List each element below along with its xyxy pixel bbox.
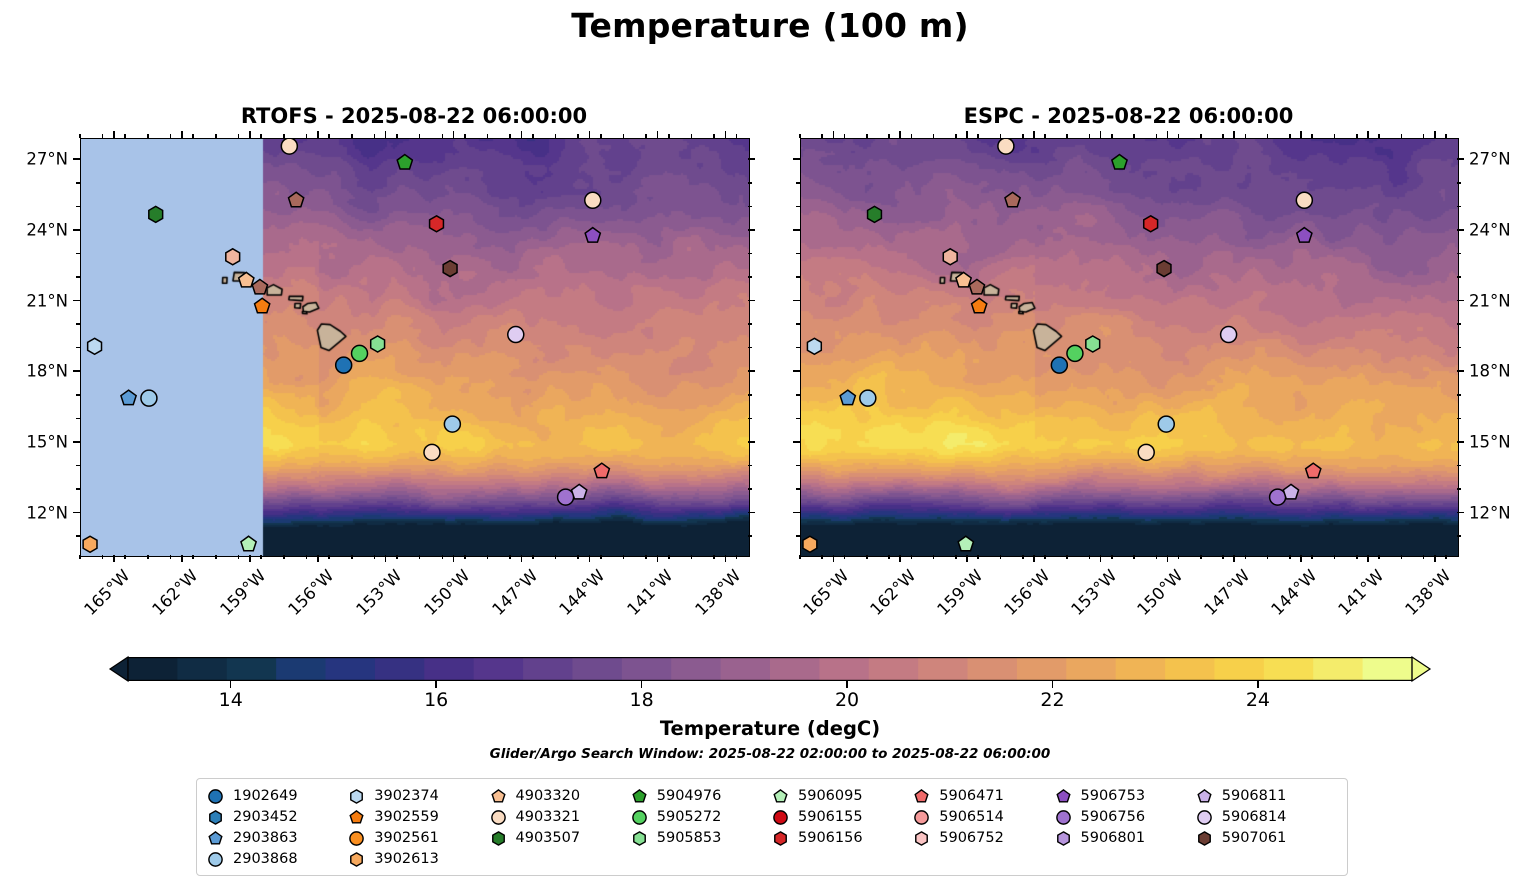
xtick-major-top: [899, 131, 901, 138]
xtick-minor-top: [1356, 134, 1358, 138]
xtick-major: [833, 555, 835, 562]
argo-marker[interactable]: [958, 536, 973, 550]
xtick-minor: [102, 555, 104, 559]
xtick-major: [1233, 555, 1235, 562]
ytick-minor-right: [748, 535, 752, 537]
xtick-major: [725, 555, 727, 562]
legend-item[interactable]: 4903321: [490, 807, 631, 828]
ytick-label-right: 15°N: [1469, 432, 1539, 451]
ytick-minor-left: [796, 323, 800, 325]
xtick-minor: [170, 555, 172, 559]
ytick-minor-left: [796, 535, 800, 537]
legend-item[interactable]: 5906471: [913, 786, 1054, 807]
xtick-major-top: [1434, 131, 1436, 138]
argo-marker[interactable]: [868, 206, 882, 222]
xtick-minor-top: [1200, 134, 1202, 138]
xtick-minor-top: [442, 134, 444, 138]
xtick-minor: [306, 555, 308, 559]
ytick-label-right: 24°N: [1469, 220, 1539, 239]
colorbar-band: [622, 657, 672, 681]
legend-item[interactable]: 5905853: [631, 828, 772, 849]
xtick-major: [113, 555, 115, 562]
legend-label: 4903321: [516, 810, 581, 825]
legend-spacer: [631, 849, 772, 870]
ytick-minor-left: [796, 488, 800, 490]
xtick-major: [181, 555, 183, 562]
xtick-minor: [799, 555, 801, 559]
xtick-minor-top: [691, 134, 693, 138]
argo-marker[interactable]: [281, 138, 297, 154]
xtick-major: [657, 555, 659, 562]
xtick-major-top: [453, 131, 455, 138]
argo-marker[interactable]: [1306, 463, 1321, 477]
colorbar-tick-label: 14: [219, 689, 243, 711]
colorbar-band: [1066, 657, 1116, 681]
xtick-minor-top: [1334, 134, 1336, 138]
xtick-major-top: [317, 131, 319, 138]
ytick-minor-left: [76, 276, 80, 278]
xtick-minor-top: [238, 134, 240, 138]
colorbar-band: [968, 657, 1018, 681]
ytick-minor-right: [748, 488, 752, 490]
ytick-minor-right: [1457, 323, 1461, 325]
ytick-minor-right: [1457, 206, 1461, 208]
colorbar-tick: [846, 681, 847, 688]
ytick-minor-right: [1457, 394, 1461, 396]
legend-item[interactable]: 1902649: [207, 786, 348, 807]
legend-marker-hexagon-icon: [348, 851, 365, 868]
ytick-label-left: 18°N: [0, 362, 68, 381]
argo-marker[interactable]: [1138, 444, 1154, 460]
ytick-major-right: [748, 300, 755, 302]
xtick-minor: [668, 555, 670, 559]
xtick-major: [453, 555, 455, 562]
argo-marker[interactable]: [1144, 216, 1158, 232]
xtick-minor-top: [306, 134, 308, 138]
xtick-minor: [1267, 555, 1269, 559]
xtick-major-top: [833, 131, 835, 138]
ytick-minor-right: [748, 206, 752, 208]
argo-marker[interactable]: [252, 279, 267, 293]
xtick-minor: [532, 555, 534, 559]
colorbar-tick-label: 24: [1246, 689, 1270, 711]
argo-marker[interactable]: [594, 463, 609, 477]
argo-marker[interactable]: [289, 192, 304, 206]
xtick-minor-top: [124, 134, 126, 138]
xtick-minor: [1133, 555, 1135, 559]
xtick-minor-top: [464, 134, 466, 138]
ytick-minor-left: [796, 465, 800, 467]
legend-marker-circle-icon: [490, 809, 507, 826]
ytick-minor-right: [1457, 347, 1461, 349]
xtick-minor: [464, 555, 466, 559]
argo-marker[interactable]: [241, 536, 256, 550]
colorbar-band: [1165, 657, 1215, 681]
xtick-minor: [374, 555, 376, 559]
xtick-minor-top: [577, 134, 579, 138]
argo-marker[interactable]: [255, 298, 270, 312]
xtick-minor: [1334, 555, 1336, 559]
argo-marker[interactable]: [1157, 261, 1171, 277]
legend-marker-pentagon-icon: [490, 788, 507, 805]
argo-marker[interactable]: [1158, 416, 1174, 432]
legend-spacer: [913, 849, 1054, 870]
xtick-minor: [866, 555, 868, 559]
xtick-label: 138°W: [692, 566, 745, 619]
argo-marker[interactable]: [88, 338, 102, 354]
ytick-minor-right: [748, 347, 752, 349]
colorbar-band: [1363, 657, 1413, 681]
legend-marker-pentagon-icon: [913, 788, 930, 805]
ytick-major-left: [73, 158, 80, 160]
xtick-major: [1100, 555, 1102, 562]
legend-label: 5906814: [1222, 810, 1287, 825]
legend-item[interactable]: 5904976: [631, 786, 772, 807]
xtick-minor-top: [1267, 134, 1269, 138]
ytick-minor-right: [748, 323, 752, 325]
argo-marker[interactable]: [972, 298, 987, 312]
xtick-minor: [1022, 555, 1024, 559]
xtick-minor-top: [911, 134, 913, 138]
colorbar-tick: [1052, 681, 1053, 688]
argo-marker[interactable]: [508, 327, 524, 343]
legend-marker-pentagon-icon: [1196, 788, 1213, 805]
legend-marker-hexagon-icon: [207, 809, 224, 826]
xtick-minor: [283, 555, 285, 559]
argo-marker[interactable]: [1297, 228, 1312, 242]
legend-marker-hexagon-icon: [1055, 830, 1072, 847]
argo-marker[interactable]: [1086, 336, 1100, 352]
xtick-label: 144°W: [556, 566, 609, 619]
xtick-major-top: [657, 131, 659, 138]
argo-marker[interactable]: [1112, 155, 1127, 169]
xtick-major-top: [589, 131, 591, 138]
ytick-minor-left: [76, 347, 80, 349]
xtick-minor: [396, 555, 398, 559]
ytick-label-left: 24°N: [0, 220, 68, 239]
ytick-minor-left: [796, 394, 800, 396]
xtick-major-top: [385, 131, 387, 138]
legend-marker-hexagon-icon: [913, 830, 930, 847]
xtick-minor: [442, 555, 444, 559]
legend-label: 5906752: [939, 831, 1004, 846]
legend-item[interactable]: 3902559: [348, 807, 489, 828]
ytick-major-right: [1457, 512, 1464, 514]
xtick-minor-top: [1022, 134, 1024, 138]
xtick-label: 147°W: [488, 566, 541, 619]
legend-item[interactable]: 2903452: [207, 807, 348, 828]
legend-label: 5906156: [798, 831, 863, 846]
legend-label: 3902613: [374, 852, 439, 867]
argo-marker[interactable]: [803, 536, 817, 552]
argo-marker[interactable]: [558, 489, 574, 505]
argo-marker[interactable]: [943, 249, 957, 265]
xtick-major-top: [966, 131, 968, 138]
legend-label: 5906753: [1081, 789, 1146, 804]
xtick-minor: [555, 555, 557, 559]
xtick-label: 159°W: [933, 566, 986, 619]
colorbar-band: [523, 657, 573, 681]
argo-marker[interactable]: [149, 206, 163, 222]
xtick-label: 156°W: [1000, 566, 1053, 619]
xtick-minor: [645, 555, 647, 559]
legend-label: 5907061: [1222, 831, 1287, 846]
xtick-minor: [691, 555, 693, 559]
ytick-major-right: [1457, 441, 1464, 443]
xtick-major-top: [521, 131, 523, 138]
xtick-minor: [888, 555, 890, 559]
argo-marker[interactable]: [371, 336, 385, 352]
legend-marker-circle-icon: [207, 788, 224, 805]
map-panel-espc[interactable]: [800, 138, 1459, 557]
legend-item[interactable]: 5906156: [772, 828, 913, 849]
xtick-major: [1434, 555, 1436, 562]
xtick-major-top: [181, 131, 183, 138]
colorbar-band: [128, 657, 178, 681]
legend-label: 1902649: [233, 789, 298, 804]
ytick-major-right: [1457, 300, 1464, 302]
legend-item[interactable]: 5906514: [913, 807, 1054, 828]
argo-marker[interactable]: [226, 249, 240, 265]
legend-item[interactable]: 3902613: [348, 849, 489, 870]
ytick-major-left: [73, 229, 80, 231]
colorbar-band: [326, 657, 376, 681]
xtick-label: 150°W: [1134, 566, 1187, 619]
xtick-minor-top: [328, 134, 330, 138]
xtick-minor: [1111, 555, 1113, 559]
xtick-label: 147°W: [1201, 566, 1254, 619]
xtick-minor-top: [1111, 134, 1113, 138]
legend-item[interactable]: 5906155: [772, 807, 913, 828]
xtick-major: [521, 555, 523, 562]
ytick-minor-left: [796, 347, 800, 349]
legend-label: 5906514: [939, 810, 1004, 825]
argo-marker[interactable]: [585, 228, 600, 242]
xtick-minor: [1066, 555, 1068, 559]
xtick-minor-top: [1245, 134, 1247, 138]
legend-item[interactable]: 5905272: [631, 807, 772, 828]
ytick-minor-right: [1457, 418, 1461, 420]
colorbar-band: [770, 657, 820, 681]
ytick-minor-right: [748, 394, 752, 396]
xtick-minor: [1401, 555, 1403, 559]
argo-marker[interactable]: [430, 216, 444, 232]
xtick-minor: [933, 555, 935, 559]
xtick-minor: [1356, 555, 1358, 559]
legend-label: 5906471: [939, 789, 1004, 804]
legend-item[interactable]: 4903507: [490, 828, 631, 849]
xtick-major: [899, 555, 901, 562]
legend-marker-pentagon-icon: [348, 809, 365, 826]
ytick-minor-left: [76, 182, 80, 184]
xtick-minor: [215, 555, 217, 559]
colorbar-band: [918, 657, 968, 681]
xtick-minor-top: [645, 134, 647, 138]
xtick-minor-top: [713, 134, 715, 138]
xtick-minor: [351, 555, 353, 559]
map-panel-rtofs[interactable]: [80, 138, 750, 557]
argo-marker[interactable]: [969, 279, 984, 293]
platform-legend[interactable]: 1902649390237449033205904976590609559064…: [196, 778, 1348, 876]
ytick-major-left: [793, 512, 800, 514]
argo-marker[interactable]: [443, 261, 457, 277]
legend-label: 5906756: [1081, 810, 1146, 825]
xtick-minor-top: [1000, 134, 1002, 138]
legend-item[interactable]: 5906801: [1055, 828, 1196, 849]
xtick-minor-top: [1066, 134, 1068, 138]
colorbar-tick-label: 22: [1040, 689, 1064, 711]
xtick-minor-top: [1423, 134, 1425, 138]
xtick-label: 153°W: [352, 566, 405, 619]
xtick-minor: [419, 555, 421, 559]
ytick-minor-left: [796, 206, 800, 208]
legend-item[interactable]: 3902374: [348, 786, 489, 807]
xtick-minor: [1089, 555, 1091, 559]
xtick-minor-top: [351, 134, 353, 138]
argo-marker[interactable]: [121, 390, 136, 404]
xtick-minor-top: [192, 134, 194, 138]
xtick-minor-top: [419, 134, 421, 138]
figure-canvas: Temperature (100 m) RTOFS - 2025-08-22 0…: [0, 0, 1540, 889]
argo-marker[interactable]: [585, 192, 601, 208]
marker-overlay-espc: [801, 139, 1458, 556]
colorbar-band: [177, 657, 227, 681]
legend-item[interactable]: 3902561: [348, 828, 489, 849]
search-window-caption: Glider/Argo Search Window: 2025-08-22 02…: [0, 746, 1540, 762]
legend-label: 2903452: [233, 810, 298, 825]
xtick-minor-top: [888, 134, 890, 138]
argo-marker[interactable]: [141, 390, 157, 406]
xtick-major: [317, 555, 319, 562]
legend-item[interactable]: 5906095: [772, 786, 913, 807]
legend-spacer: [1055, 849, 1196, 870]
argo-marker[interactable]: [352, 345, 368, 361]
xtick-major-top: [1100, 131, 1102, 138]
legend-marker-circle-icon: [207, 851, 224, 868]
xtick-minor: [1423, 555, 1425, 559]
xtick-minor-top: [844, 134, 846, 138]
xtick-minor: [1289, 555, 1291, 559]
legend-label: 2903863: [233, 831, 298, 846]
legend-item[interactable]: 5906814: [1196, 807, 1337, 828]
colorbar-band: [424, 657, 474, 681]
legend-item[interactable]: 5907061: [1196, 828, 1337, 849]
xtick-minor: [713, 555, 715, 559]
xtick-minor-top: [933, 134, 935, 138]
legend-marker-hexagon-icon: [348, 788, 365, 805]
legend-item[interactable]: 2903868: [207, 849, 348, 870]
xtick-minor-top: [215, 134, 217, 138]
argo-marker[interactable]: [807, 338, 821, 354]
xtick-minor: [487, 555, 489, 559]
xtick-minor: [577, 555, 579, 559]
xtick-minor-top: [821, 134, 823, 138]
argo-marker[interactable]: [397, 155, 412, 169]
xtick-label: 159°W: [216, 566, 269, 619]
legend-label: 4903507: [516, 831, 581, 846]
xtick-label: 141°W: [624, 566, 677, 619]
xtick-minor: [238, 555, 240, 559]
legend-label: 5906095: [798, 789, 863, 804]
xtick-label: 165°W: [800, 566, 853, 619]
legend-label: 3902374: [374, 789, 439, 804]
argo-marker[interactable]: [998, 138, 1014, 154]
legend-marker-pentagon-icon: [1055, 788, 1072, 805]
xtick-minor-top: [509, 134, 511, 138]
colorbar-band: [1214, 657, 1264, 681]
xtick-label: 150°W: [420, 566, 473, 619]
marker-overlay-rtofs: [81, 139, 749, 556]
legend-label: 5904976: [657, 789, 722, 804]
argo-marker[interactable]: [1051, 357, 1067, 373]
xtick-minor: [1311, 555, 1313, 559]
argo-marker[interactable]: [1005, 192, 1020, 206]
legend-label: 2903868: [233, 852, 298, 867]
legend-item[interactable]: 5906753: [1055, 786, 1196, 807]
argo-marker[interactable]: [1296, 192, 1312, 208]
legend-item[interactable]: 2903863: [207, 828, 348, 849]
ytick-major-left: [793, 158, 800, 160]
argo-marker[interactable]: [444, 416, 460, 432]
legend-item[interactable]: 5906811: [1196, 786, 1337, 807]
xtick-major: [589, 555, 591, 562]
ytick-minor-right: [748, 418, 752, 420]
xtick-minor-top: [1044, 134, 1046, 138]
xtick-minor-top: [977, 134, 979, 138]
argo-marker[interactable]: [1283, 484, 1298, 498]
colorbar-title: Temperature (degC): [0, 717, 1540, 740]
xtick-minor-top: [555, 134, 557, 138]
argo-marker[interactable]: [840, 390, 855, 404]
xtick-major: [1167, 555, 1169, 562]
xtick-minor-top: [1289, 134, 1291, 138]
ytick-minor-left: [76, 206, 80, 208]
xtick-minor-top: [866, 134, 868, 138]
xtick-minor: [1044, 555, 1046, 559]
xtick-minor: [1378, 555, 1380, 559]
xtick-major: [1367, 555, 1369, 562]
legend-marker-hexagon-icon: [631, 830, 648, 847]
legend-marker-pentagon-icon: [207, 830, 224, 847]
legend-marker-circle-icon: [631, 809, 648, 826]
ytick-label-left: 12°N: [0, 503, 68, 522]
ytick-minor-left: [76, 394, 80, 396]
argo-marker[interactable]: [83, 536, 97, 552]
ytick-major-right: [748, 512, 755, 514]
legend-item[interactable]: 5906756: [1055, 807, 1196, 828]
xtick-label: 162°W: [148, 566, 201, 619]
colorbar-tick: [435, 681, 436, 688]
argo-marker[interactable]: [1221, 327, 1237, 343]
xtick-minor: [1000, 555, 1002, 559]
argo-marker[interactable]: [424, 444, 440, 460]
argo-marker[interactable]: [336, 357, 352, 373]
ytick-minor-left: [76, 465, 80, 467]
argo-marker[interactable]: [572, 484, 587, 498]
legend-item[interactable]: 4903320: [490, 786, 631, 807]
argo-marker[interactable]: [860, 390, 876, 406]
ytick-major-right: [1457, 158, 1464, 160]
argo-marker[interactable]: [1067, 345, 1083, 361]
xtick-minor: [955, 555, 957, 559]
legend-item[interactable]: 5906752: [913, 828, 1054, 849]
colorbar-tick-label: 20: [835, 689, 859, 711]
ytick-minor-left: [76, 488, 80, 490]
xtick-major-top: [1167, 131, 1169, 138]
legend-marker-hexagon-icon: [1196, 830, 1213, 847]
xtick-minor: [911, 555, 913, 559]
legend-marker-circle-icon: [348, 830, 365, 847]
